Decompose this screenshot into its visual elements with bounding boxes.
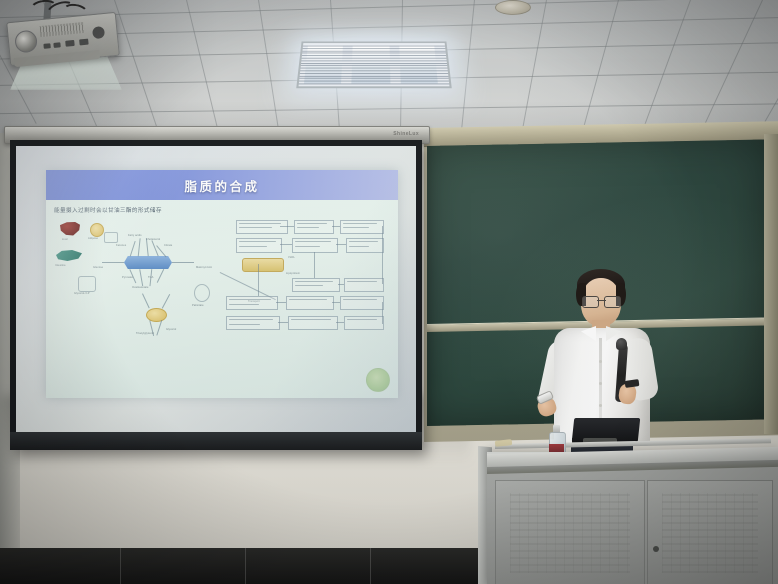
slide-title: 脂质的合成 [184, 176, 259, 195]
pull-down-projection-screen[interactable]: 脂质的合成 能量摄入过剩时会以甘油三酯的形式储存 Liver Adipose I… [10, 140, 422, 450]
floor-strip [0, 548, 500, 584]
screen-surface: 脂质的合成 能量摄入过剩时会以甘油三酯的形式储存 Liver Adipose I… [16, 146, 416, 432]
acetyl-coa-hub-node [124, 256, 172, 269]
recessed-fluorescent-troffer-icon [296, 41, 452, 88]
classroom-photo: ShineLux 脂质的合成 能量摄入过剩时会以甘油三酯的形式储存 Liver … [0, 0, 778, 584]
slide-subtitle: 能量摄入过剩时会以甘油三酯的形式储存 [54, 206, 162, 214]
liver-organ-icon [60, 222, 80, 236]
projected-slide: 脂质的合成 能量摄入过剩时会以甘油三酯的形式储存 Liver Adipose I… [46, 170, 398, 398]
console-door-right[interactable] [647, 480, 773, 584]
projector-lens-icon [14, 30, 38, 54]
projector-vent [40, 22, 85, 37]
slide-title-band: 脂质的合成 [46, 170, 398, 200]
chalkboard-right-post [764, 134, 778, 434]
screen-weight-bar [10, 432, 422, 450]
console-lock-icon[interactable] [653, 546, 659, 552]
node-triglyceride-icon [242, 258, 284, 272]
microphone-capsule [616, 338, 627, 350]
smoke-detector-icon [495, 0, 531, 15]
teaching-console[interactable] [487, 452, 778, 584]
intestine-organ-icon [56, 250, 82, 261]
console-door-left[interactable] [495, 480, 645, 584]
lipid-metabolism-pathway-diagram: Liver Adipose Intestine [46, 216, 398, 398]
node-adipose-icon [90, 223, 104, 237]
screen-brand-label: ShineLux [393, 131, 419, 137]
university-watermark-logo [366, 368, 390, 392]
eyeglasses-icon [582, 296, 621, 306]
